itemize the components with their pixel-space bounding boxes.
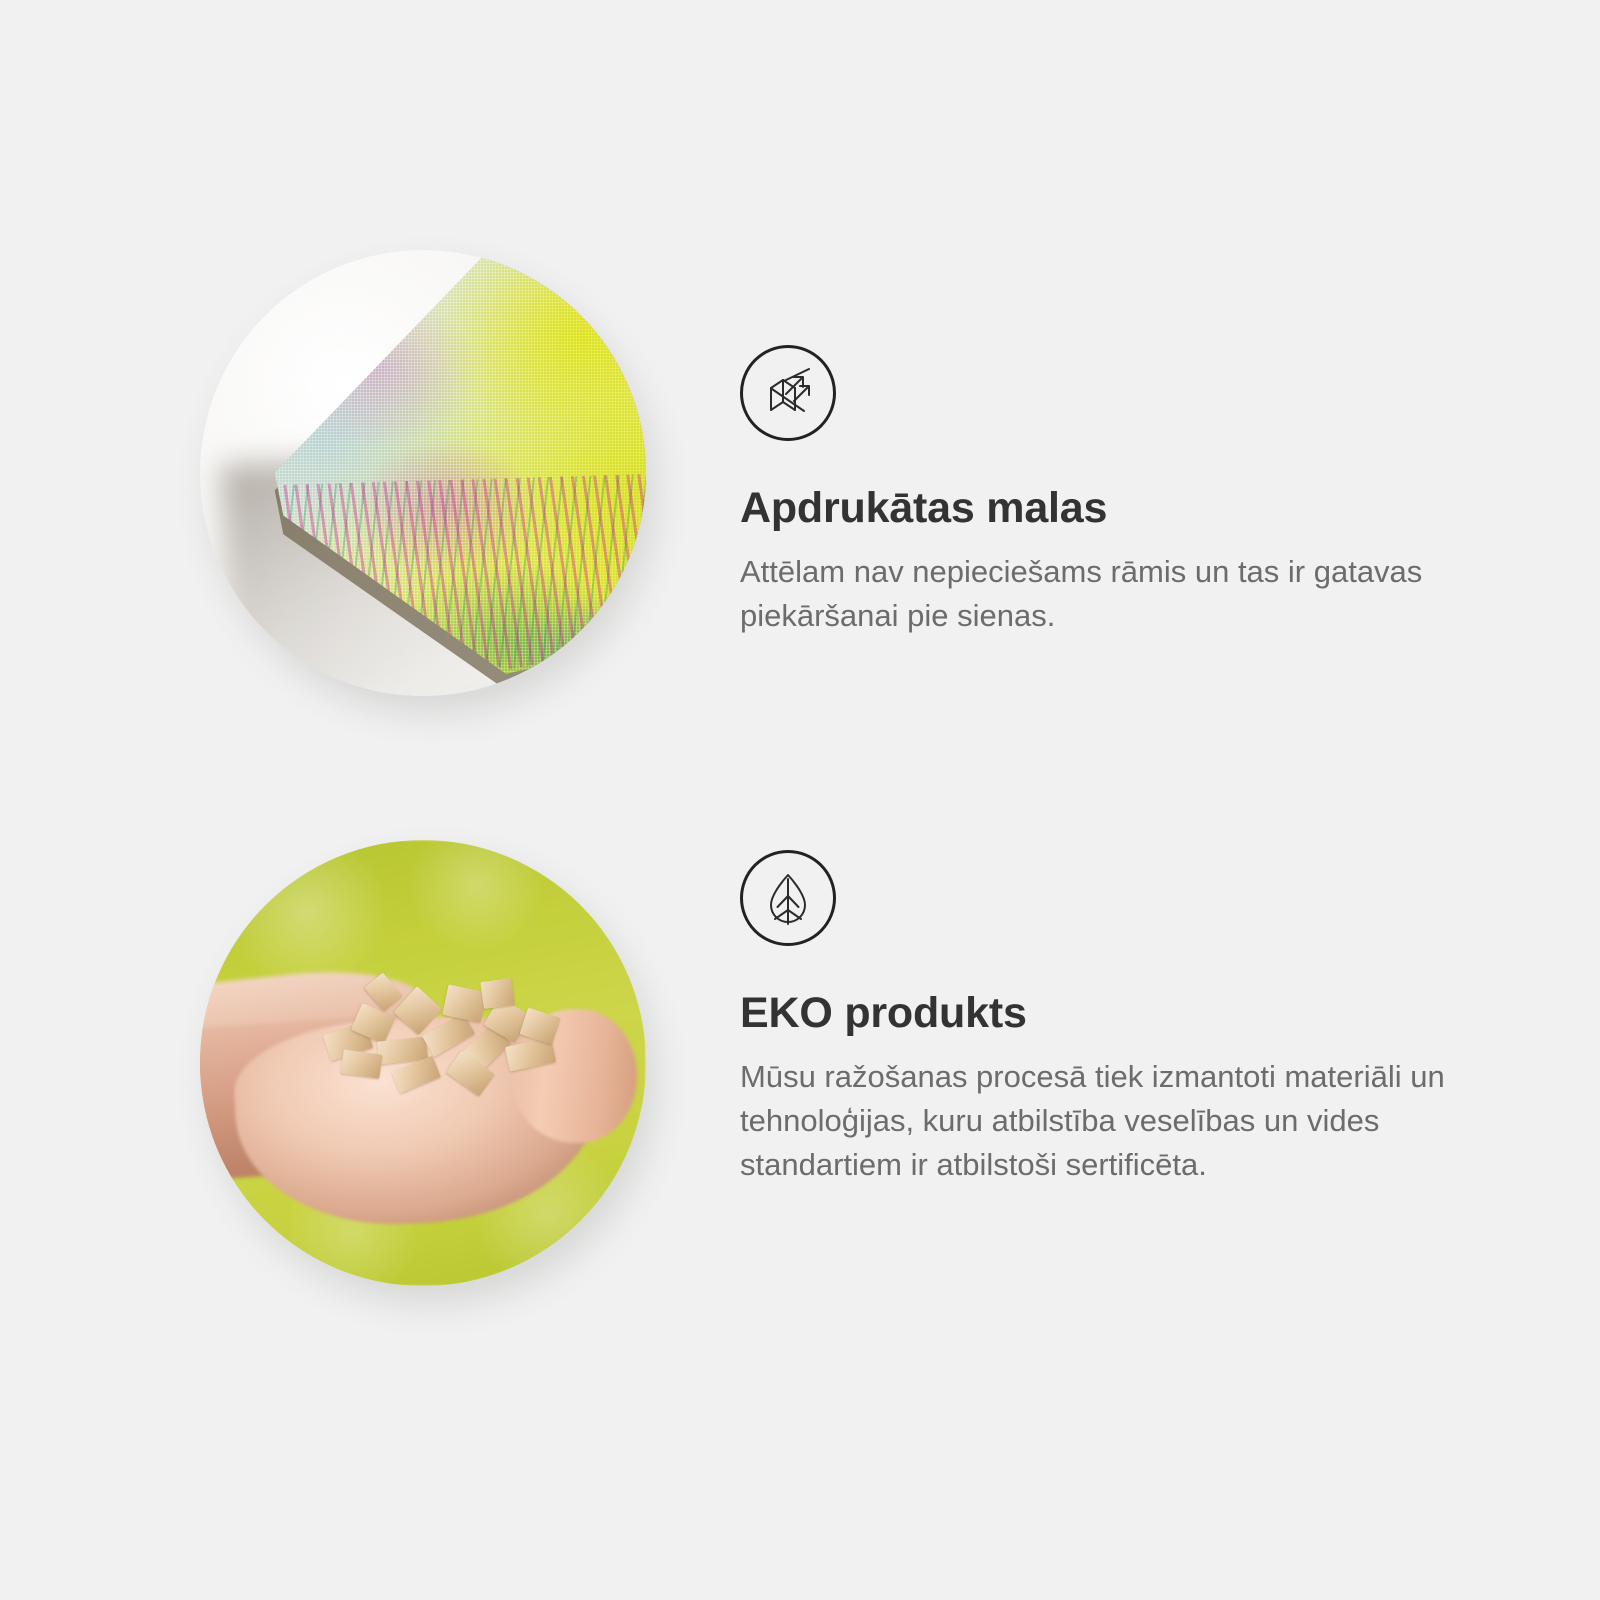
feature-block-printed-edges: Apdrukātas malas Attēlam nav nepieciešam…: [0, 250, 1600, 770]
printed-canvas-corner-photo: [200, 250, 646, 696]
eco-photo-scene: [200, 840, 646, 1286]
feature-text-eco-product: EKO produkts Mūsu ražošanas procesā tiek…: [740, 840, 1600, 1187]
feature-title: EKO produkts: [740, 990, 1600, 1037]
canvas-wrapped-edges-icon: [740, 345, 836, 441]
feature-media-eco-product: [0, 840, 740, 1340]
leaf-icon: [740, 850, 836, 946]
wood-chips-heap: [316, 969, 575, 1103]
feature-media-printed-edges: [0, 250, 740, 750]
feature-description: Mūsu ražošanas procesā tiek izmantoti ma…: [740, 1055, 1470, 1187]
feature-description: Attēlam nav nepieciešams rāmis un tas ir…: [740, 550, 1470, 638]
canvas-photo-scene: [200, 250, 646, 696]
feature-title: Apdrukātas malas: [740, 485, 1600, 532]
feature-block-eco-product: EKO produkts Mūsu ražošanas procesā tiek…: [0, 840, 1600, 1360]
feature-text-printed-edges: Apdrukātas malas Attēlam nav nepieciešam…: [740, 250, 1600, 638]
hands-holding-wood-chips-photo: [200, 840, 646, 1286]
feature-list-page: Apdrukātas malas Attēlam nav nepieciešam…: [0, 0, 1600, 1600]
